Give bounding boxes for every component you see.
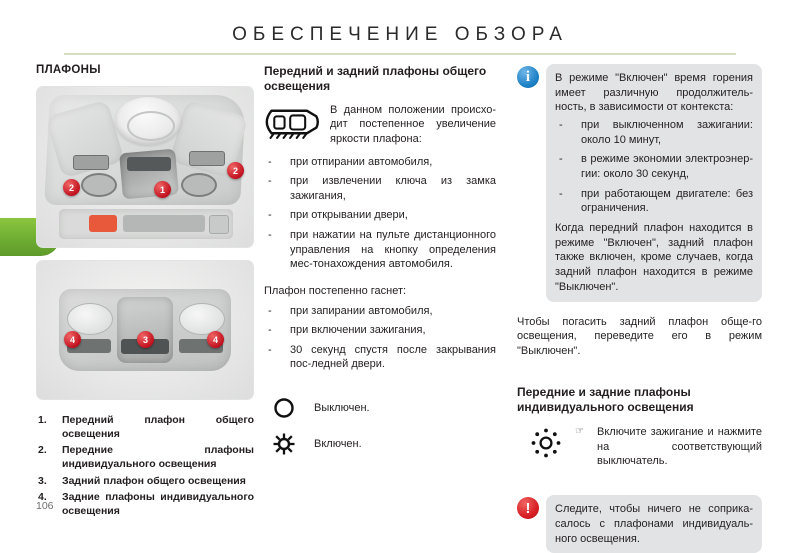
state-off-label: Выключен. [314, 402, 370, 414]
callout-3-center: 3 [137, 331, 154, 348]
gradual-increase-block: В данном положении происхо-дит постепенн… [264, 103, 496, 147]
reading-lamp-left-shape [81, 173, 117, 197]
rear-roof-console-photo: 4 3 4 [36, 260, 254, 400]
circle-off-icon [272, 396, 296, 420]
info-outro: Когда передний плафон находится в режиме… [555, 221, 753, 295]
info-callout: i В режиме "Включен" время горения имеет… [517, 64, 762, 302]
switch-left-shape [73, 155, 109, 170]
state-on-label: Включен. [314, 438, 362, 450]
rear-lamp-right-shape [179, 303, 225, 335]
list-item: при выключенном зажигании: около 10 мину… [555, 118, 753, 147]
callout-4-left: 4 [64, 331, 81, 348]
warning-callout-bubble: Следите, чтобы ничего не соприка-салось … [546, 495, 762, 553]
list-item: при нажатии на пульте дистанционного упр… [264, 228, 496, 272]
display-strip-shape [123, 215, 205, 232]
individual-lighting-text: Включите зажигание и нажмите на соответс… [597, 425, 762, 469]
legend-text: Задние плафоны индивидуального освещения [62, 491, 254, 517]
car-top-view-gradual-light-icon [264, 105, 322, 139]
list-item: 4. Задние плафоны индивидуального освеще… [36, 491, 254, 518]
callout-4-right: 4 [207, 331, 224, 348]
page-number: 106 [36, 500, 54, 512]
individual-lighting-instruction: ☞ Включите зажигание и нажмите на соотве… [517, 425, 762, 469]
individual-lighting-heading: Передние и задние плафоны индивидуальног… [517, 385, 762, 416]
fade-conditions-list: при запирании автомобиля, при включении … [264, 304, 496, 373]
legend-number: 3. [38, 475, 47, 489]
manual-page: ОБЕСПЕЧЕНИЕ ОБЗОРА 5 ПЛАФОНЫ 2 1 [0, 0, 800, 545]
list-item: при запирании автомобиля, [264, 304, 496, 319]
list-item: при открывании двери, [264, 208, 496, 223]
list-item: 3. Задний плафон общего освещения [36, 475, 254, 489]
state-off-row: Выключен. [264, 396, 496, 420]
photo-legend-list: 1. Передний плафон общего освещения 2. П… [36, 414, 254, 518]
legend-text: Задний плафон общего освещения [62, 475, 246, 487]
warning-callout: ! Следите, чтобы ничего не соприка-салос… [517, 495, 762, 553]
fade-title: Плафон постепенно гаснет: [264, 284, 496, 299]
list-item: при извлечении ключа из замка зажигания, [264, 174, 496, 203]
front-roof-console-photo: 2 1 2 [36, 86, 254, 248]
state-on-row: Включен. [264, 432, 496, 456]
list-item: при отпирании автомобиля, [264, 155, 496, 170]
increase-conditions-list: при отпирании автомобиля, при извлечении… [264, 155, 496, 272]
info-callout-bubble: В режиме "Включен" время горения имеет р… [546, 64, 762, 302]
overhead-dome-inner-shape [127, 111, 175, 141]
legend-text: Передние плафоны индивидуального освещен… [62, 444, 254, 470]
right-column: i В режиме "Включен" время горения имеет… [517, 64, 762, 553]
title-divider [64, 53, 736, 55]
gradual-increase-text: В данном положении происхо-дит постепенн… [330, 103, 496, 147]
dotted-sun-icon [525, 425, 567, 461]
middle-column: Передний и задний плафоны общего освещен… [264, 64, 496, 468]
list-item: при работающем двигателе: без ограничени… [555, 187, 753, 216]
center-lamp-switches-shape [127, 157, 171, 171]
side-button-shape [209, 215, 229, 234]
info-intro: В режиме "Включен" время горения имеет р… [555, 71, 753, 115]
hazard-button-shape [89, 215, 117, 232]
legend-number: 2. [38, 444, 47, 458]
reading-lamp-right-shape [181, 173, 217, 197]
info-items-list: при выключенном зажигании: около 10 мину… [555, 118, 753, 216]
left-column: ПЛАФОНЫ 2 1 2 [36, 64, 254, 521]
list-item: 2. Передние плафоны индивидуального осве… [36, 444, 254, 471]
callout-2-right: 2 [227, 162, 244, 179]
list-item: 30 секунд спустя после закрывания пос-ле… [264, 343, 496, 372]
list-item: при включении зажигания, [264, 323, 496, 338]
sun-on-icon [272, 432, 296, 456]
subsection-heading: Передний и задний плафоны общего освещен… [264, 64, 496, 95]
section-heading: ПЛАФОНЫ [36, 64, 254, 76]
callout-2-left: 2 [63, 179, 80, 196]
legend-text: Передний плафон общего освещения [62, 414, 254, 440]
warning-icon: ! [517, 497, 539, 519]
list-item: 1. Передний плафон общего освещения [36, 414, 254, 441]
info-icon: i [517, 66, 539, 88]
rear-lamp-paragraph: Чтобы погасить задний плафон обще-го осв… [517, 315, 762, 359]
list-item: в режиме экономии электроэнер-гии: около… [555, 152, 753, 181]
switch-right-shape [189, 151, 225, 166]
callout-1-center: 1 [154, 181, 171, 198]
page-title: ОБЕСПЕЧЕНИЕ ОБЗОРА [0, 24, 800, 46]
legend-number: 1. [38, 414, 47, 428]
pointing-hand-icon: ☞ [575, 426, 589, 437]
